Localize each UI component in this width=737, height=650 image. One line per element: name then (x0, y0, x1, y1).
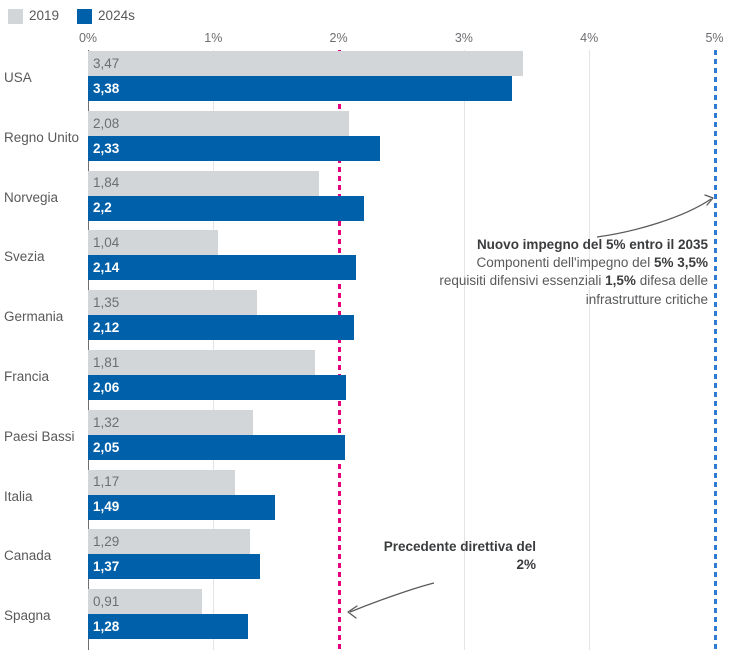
bar-norvegia-2024s[interactable]: 2,2 (88, 196, 364, 221)
category-label-paesi-bassi: Paesi Bassi (4, 430, 75, 444)
bar-value-label: 2,33 (88, 142, 119, 156)
bar-value-label: 1,37 (88, 560, 119, 574)
bar-group-norvegia: Norvegia1,842,2 (0, 171, 737, 231)
legend-item-2024s[interactable]: 2024s (77, 9, 135, 24)
annotation-bottom-line2: 2% (360, 556, 536, 574)
annotation-top-line3-text: requisiti difensivi essenziali (439, 273, 605, 288)
category-label-svezia: Svezia (4, 250, 45, 264)
category-label-usa: USA (4, 71, 32, 85)
category-label-norvegia: Norvegia (4, 191, 58, 205)
bar-italia-2019[interactable]: 1,17 (88, 470, 235, 495)
bar-usa-2024s[interactable]: 3,38 (88, 76, 512, 101)
category-label-italia: Italia (4, 490, 33, 504)
bar-svezia-2024s[interactable]: 2,14 (88, 255, 356, 280)
bar-paesi-bassi-2024s[interactable]: 2,05 (88, 435, 345, 460)
bar-value-label: 1,17 (88, 475, 119, 489)
bar-value-label: 2,05 (88, 441, 119, 455)
bar-value-label: 2,14 (88, 261, 119, 275)
bar-value-label: 1,28 (88, 620, 119, 634)
legend-swatch-icon (77, 9, 92, 24)
legend-swatch-icon (8, 9, 23, 24)
bar-francia-2019[interactable]: 1,81 (88, 350, 315, 375)
bar-value-label: 2,2 (88, 201, 112, 215)
bar-value-label: 0,91 (88, 595, 119, 609)
legend-label: 2024s (98, 9, 135, 23)
chart-legend: 20192024s (8, 6, 147, 26)
category-label-spagna: Spagna (4, 609, 51, 623)
x-axis-tick-1pct: 1% (204, 32, 222, 45)
annotation-top-line3-tail: difesa delle (636, 273, 708, 288)
bar-value-label: 2,08 (88, 117, 119, 131)
category-label-canada: Canada (4, 549, 51, 563)
legend-label: 2019 (29, 9, 59, 23)
annotation-top-line2-text: Componenti dell'impegno del (477, 255, 654, 270)
bar-value-label: 2,06 (88, 381, 119, 395)
annotation-top-line1: Nuovo impegno del 5% entro il 2035 (378, 236, 708, 254)
category-label-francia: Francia (4, 370, 49, 384)
bar-svezia-2019[interactable]: 1,04 (88, 230, 218, 255)
bar-canada-2019[interactable]: 1,29 (88, 529, 250, 554)
x-axis-tick-labels: 0%1%2%3%4%5% (0, 32, 737, 48)
annotation-top-line2: Componenti dell'impegno del 5% 3,5% (378, 254, 708, 272)
bar-group-francia: Francia1,812,06 (0, 350, 737, 410)
bar-usa-2019[interactable]: 3,47 (88, 51, 523, 76)
bar-group-paesi-bassi: Paesi Bassi1,322,05 (0, 410, 737, 470)
bar-value-label: 3,38 (88, 82, 119, 96)
bar-group-regno-unito: Regno Unito2,082,33 (0, 111, 737, 171)
bar-value-label: 1,84 (88, 176, 119, 190)
annotation-top-line3-emph: 1,5% (605, 273, 636, 288)
annotation-top-line3: requisiti difensivi essenziali 1,5% dife… (378, 272, 708, 290)
annotation-nuovo-impegno: Nuovo impegno del 5% entro il 2035 Compo… (378, 236, 708, 309)
x-axis-tick-0pct: 0% (79, 32, 97, 45)
bar-spagna-2024s[interactable]: 1,28 (88, 614, 248, 639)
bar-value-label: 1,81 (88, 356, 119, 370)
bar-value-label: 1,29 (88, 535, 119, 549)
bar-germania-2024s[interactable]: 2,12 (88, 315, 354, 340)
category-label-regno-unito: Regno Unito (4, 131, 79, 145)
x-axis-tick-5pct: 5% (705, 32, 723, 45)
bar-value-label: 2,12 (88, 321, 119, 335)
x-axis-tick-3pct: 3% (455, 32, 473, 45)
bar-group-italia: Italia1,171,49 (0, 470, 737, 530)
annotation-precedente-direttiva: Precedente direttiva del 2% (360, 538, 536, 574)
category-label-germania: Germania (4, 310, 63, 324)
bar-italia-2024s[interactable]: 1,49 (88, 495, 275, 520)
bar-value-label: 1,32 (88, 416, 119, 430)
bar-group-spagna: Spagna0,911,28 (0, 589, 737, 649)
annotation-bottom-line1: Precedente direttiva del (360, 538, 536, 556)
bar-canada-2024s[interactable]: 1,37 (88, 554, 260, 579)
bar-value-label: 1,49 (88, 500, 119, 514)
bar-francia-2024s[interactable]: 2,06 (88, 375, 346, 400)
x-axis-tick-4pct: 4% (580, 32, 598, 45)
bar-value-label: 3,47 (88, 57, 119, 71)
legend-item-2019[interactable]: 2019 (8, 9, 59, 24)
bar-spagna-2019[interactable]: 0,91 (88, 589, 202, 614)
annotation-top-line4: infrastrutture critiche (378, 291, 708, 309)
bar-value-label: 1,04 (88, 236, 119, 250)
bar-regno-unito-2024s[interactable]: 2,33 (88, 136, 380, 161)
bar-paesi-bassi-2019[interactable]: 1,32 (88, 410, 253, 435)
bar-group-usa: USA3,473,38 (0, 51, 737, 111)
annotation-top-line2-emph: 5% 3,5% (654, 255, 708, 270)
bar-regno-unito-2019[interactable]: 2,08 (88, 111, 349, 136)
bar-value-label: 1,35 (88, 296, 119, 310)
x-axis-tick-2pct: 2% (330, 32, 348, 45)
bar-norvegia-2019[interactable]: 1,84 (88, 171, 319, 196)
bar-germania-2019[interactable]: 1,35 (88, 290, 257, 315)
